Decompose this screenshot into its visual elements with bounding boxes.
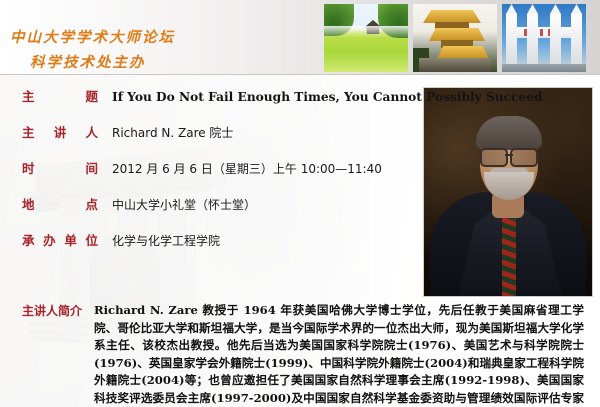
gate-pillar: [527, 14, 538, 66]
info-row-host: 承办单位 化学与化学工程学院: [0, 230, 600, 249]
info-rows: 主题 If You Do Not Fail Enough Times, You …: [0, 86, 600, 266]
gate-pillar: [506, 14, 517, 66]
speaker-biography: 主讲人简介 Richard N. Zare 教授于 1964 年获美国哈佛大学博…: [22, 302, 584, 407]
header-divider: [0, 74, 600, 75]
info-value-topic: If You Do Not Fail Enough Times, You Can…: [112, 90, 543, 104]
gate-pillar-cap: [550, 4, 561, 14]
info-label-venue: 地点: [22, 194, 98, 213]
gate-pillar-cap: [527, 4, 538, 14]
info-row-speaker: 主讲人 Richard N. Zare 院士: [0, 122, 600, 141]
header-photo-strip: [324, 4, 586, 72]
info-row-venue: 地点 中山大学小礼堂（怀士堂）: [0, 194, 600, 213]
brand-subtitle-line2: 科学技术处主办: [30, 51, 146, 72]
info-value-venue: 中山大学小礼堂（怀士堂）: [112, 196, 256, 213]
info-value-host: 化学与化学工程学院: [112, 232, 220, 249]
brand-title: 中山大学学术大师论坛 科学技术处主办: [0, 0, 330, 75]
horizon-haze: [324, 26, 408, 38]
gate-pillar-cap: [571, 4, 582, 14]
info-value-speaker: Richard N. Zare 院士: [112, 124, 233, 141]
university-gate-photo: [502, 4, 586, 72]
info-label-time: 时间: [22, 158, 98, 177]
campus-lawn-pavilion-photo: [324, 4, 408, 72]
poster-header: 中山大学学术大师论坛 科学技术处主办: [0, 0, 600, 75]
info-label-host: 承办单位: [22, 230, 98, 249]
golden-pagoda-photo: [413, 4, 497, 72]
gate-pillar-cap: [506, 4, 517, 14]
gate-pillar: [550, 14, 561, 66]
info-label-topic: 主题: [22, 86, 98, 105]
gate-pillar: [571, 14, 582, 66]
info-value-time: 2012 月 6 月 6 日（星期三）上午 10:00—11:40: [112, 160, 382, 177]
info-row-topic: 主题 If You Do Not Fail Enough Times, You …: [0, 86, 600, 105]
brand-title-line1: 中山大学学术大师论坛: [10, 26, 175, 47]
biography-label: 主讲人简介: [22, 302, 94, 407]
info-row-time: 时间 2012 月 6 月 6 日（星期三）上午 10:00—11:40: [0, 158, 600, 177]
info-label-speaker: 主讲人: [22, 122, 98, 141]
gate-ground: [502, 64, 586, 72]
lecture-poster: 中山大学学术大师论坛 科学技术处主办: [0, 0, 600, 407]
pagoda-base: [419, 58, 491, 72]
biography-text: Richard N. Zare 教授于 1964 年获美国哈佛大学博士学位，先后…: [94, 302, 584, 407]
